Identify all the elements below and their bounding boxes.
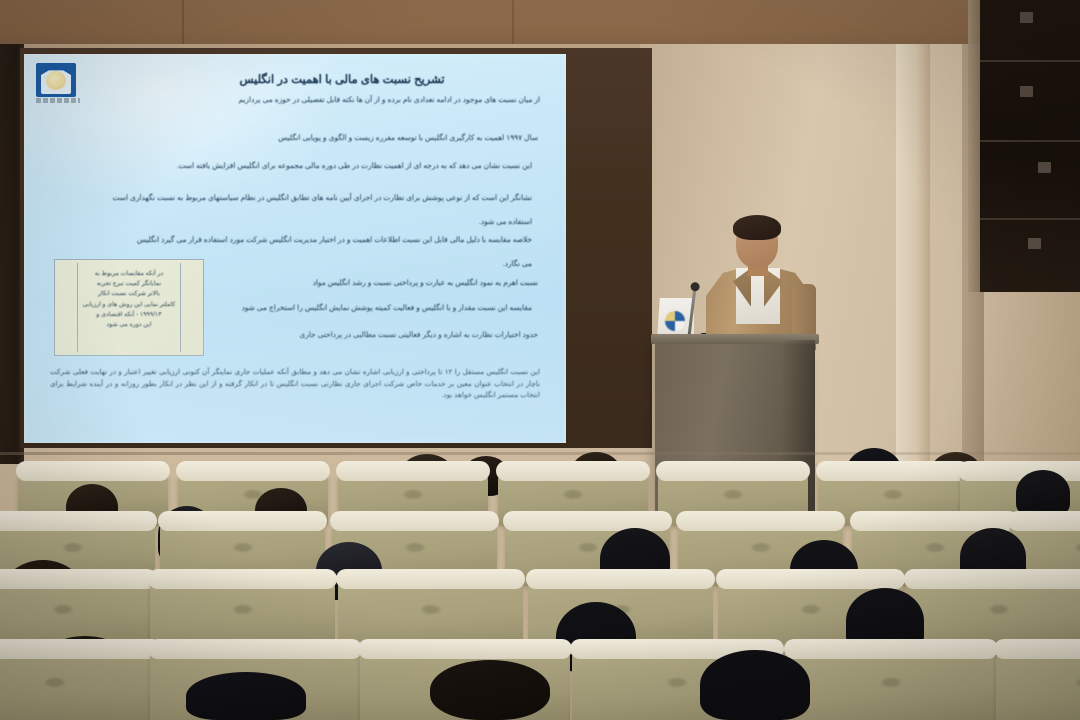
seat-top-rail bbox=[358, 639, 572, 659]
seat-logo-icon bbox=[562, 489, 584, 500]
seat-logo-icon bbox=[800, 604, 822, 615]
seat-top-rail bbox=[176, 461, 330, 481]
seat-logo-icon bbox=[924, 542, 946, 553]
seat-top-rail bbox=[148, 569, 337, 589]
seat-top-rail bbox=[904, 569, 1080, 589]
seat-logo-icon bbox=[882, 489, 904, 500]
seat-top-rail bbox=[503, 511, 672, 531]
seat-top-rail bbox=[1008, 511, 1080, 531]
seat-top-rail bbox=[0, 569, 157, 589]
audience-member-hijab bbox=[1016, 470, 1070, 516]
seat-logo-icon bbox=[1075, 677, 1080, 688]
seat-logo-icon bbox=[402, 489, 424, 500]
seat-logo-icon bbox=[52, 604, 74, 615]
seat-top-rail bbox=[336, 569, 525, 589]
seat-top-rail bbox=[656, 461, 810, 481]
seat-logo-icon bbox=[750, 542, 772, 553]
seat-top-rail bbox=[0, 639, 162, 659]
seat-logo-icon bbox=[232, 604, 254, 615]
seat-top-rail bbox=[158, 511, 327, 531]
audience-area bbox=[0, 0, 1080, 720]
seat-top-rail bbox=[148, 639, 362, 659]
seat-logo-icon bbox=[988, 604, 1010, 615]
audience-member-hijab bbox=[700, 650, 810, 720]
seat-top-rail bbox=[16, 461, 170, 481]
seat-top-rail bbox=[336, 461, 490, 481]
seat-logo-icon bbox=[44, 677, 66, 688]
audience-member-hijab bbox=[186, 672, 306, 720]
seat-top-rail bbox=[816, 461, 970, 481]
seat-logo-icon bbox=[404, 542, 426, 553]
seat-top-rail bbox=[0, 511, 157, 531]
seat-logo-icon bbox=[880, 677, 902, 688]
auditorium-seat bbox=[996, 648, 1080, 720]
seat-top-rail bbox=[496, 461, 650, 481]
seat-top-rail bbox=[784, 639, 998, 659]
auditorium-seat bbox=[0, 648, 160, 720]
audience-member-head bbox=[430, 660, 550, 720]
seat-top-rail bbox=[526, 569, 715, 589]
seat-logo-icon bbox=[577, 542, 599, 553]
seat-logo-icon bbox=[62, 542, 84, 553]
seat-logo-icon bbox=[722, 489, 744, 500]
seat-logo-icon bbox=[1074, 542, 1080, 553]
auditorium-seat bbox=[786, 648, 996, 720]
seat-logo-icon bbox=[232, 542, 254, 553]
seat-logo-icon bbox=[666, 677, 688, 688]
seat-top-rail bbox=[994, 639, 1080, 659]
seat-logo-icon bbox=[420, 604, 442, 615]
seat-top-rail bbox=[716, 569, 905, 589]
seat-top-rail bbox=[676, 511, 845, 531]
presentation-photo: تشریح نسبت های مالی با اهمیت در انگلیس ا… bbox=[0, 0, 1080, 720]
seat-top-rail bbox=[330, 511, 499, 531]
